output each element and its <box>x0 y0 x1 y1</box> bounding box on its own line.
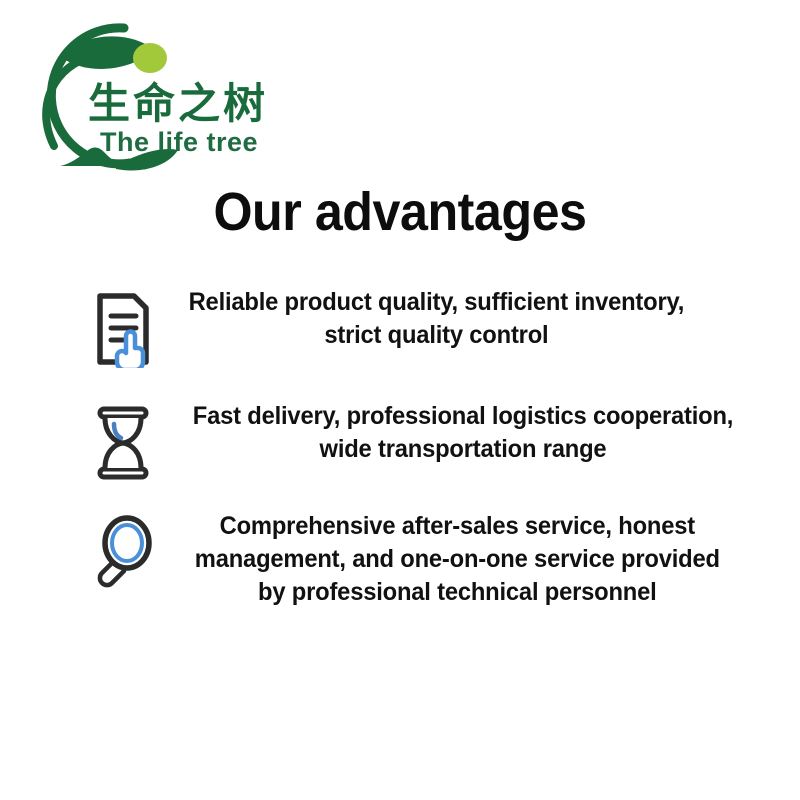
magnifier-icon <box>91 514 155 592</box>
feature-text: Fast delivery, professional logistics co… <box>180 400 784 466</box>
advantages-list: Reliable product quality, sufficient inv… <box>0 286 800 609</box>
brand-logo: 生命之树 The life tree <box>12 14 282 174</box>
feature-icon-wrapper <box>82 286 164 368</box>
logo-seed-dot <box>133 43 167 73</box>
feature-icon-wrapper <box>82 400 164 482</box>
list-item: Comprehensive after-sales service, hones… <box>0 510 800 609</box>
tree-circle-leaf-logo: 生命之树 The life tree <box>12 14 282 174</box>
page-title: Our advantages <box>28 184 772 241</box>
feature-text: Comprehensive after-sales service, hones… <box>180 510 784 609</box>
document-click-icon <box>92 290 154 368</box>
list-item: Fast delivery, professional logistics co… <box>0 400 800 482</box>
hourglass-icon <box>92 404 154 482</box>
advantages-page: 生命之树 The life tree Our advantages <box>0 0 800 800</box>
feature-icon-wrapper <box>82 510 164 592</box>
list-item: Reliable product quality, sufficient inv… <box>0 286 800 368</box>
feature-text: Reliable product quality, sufficient inv… <box>180 286 784 352</box>
logo-name-en: The life tree <box>100 127 258 157</box>
logo-name-cn: 生命之树 <box>88 80 268 127</box>
